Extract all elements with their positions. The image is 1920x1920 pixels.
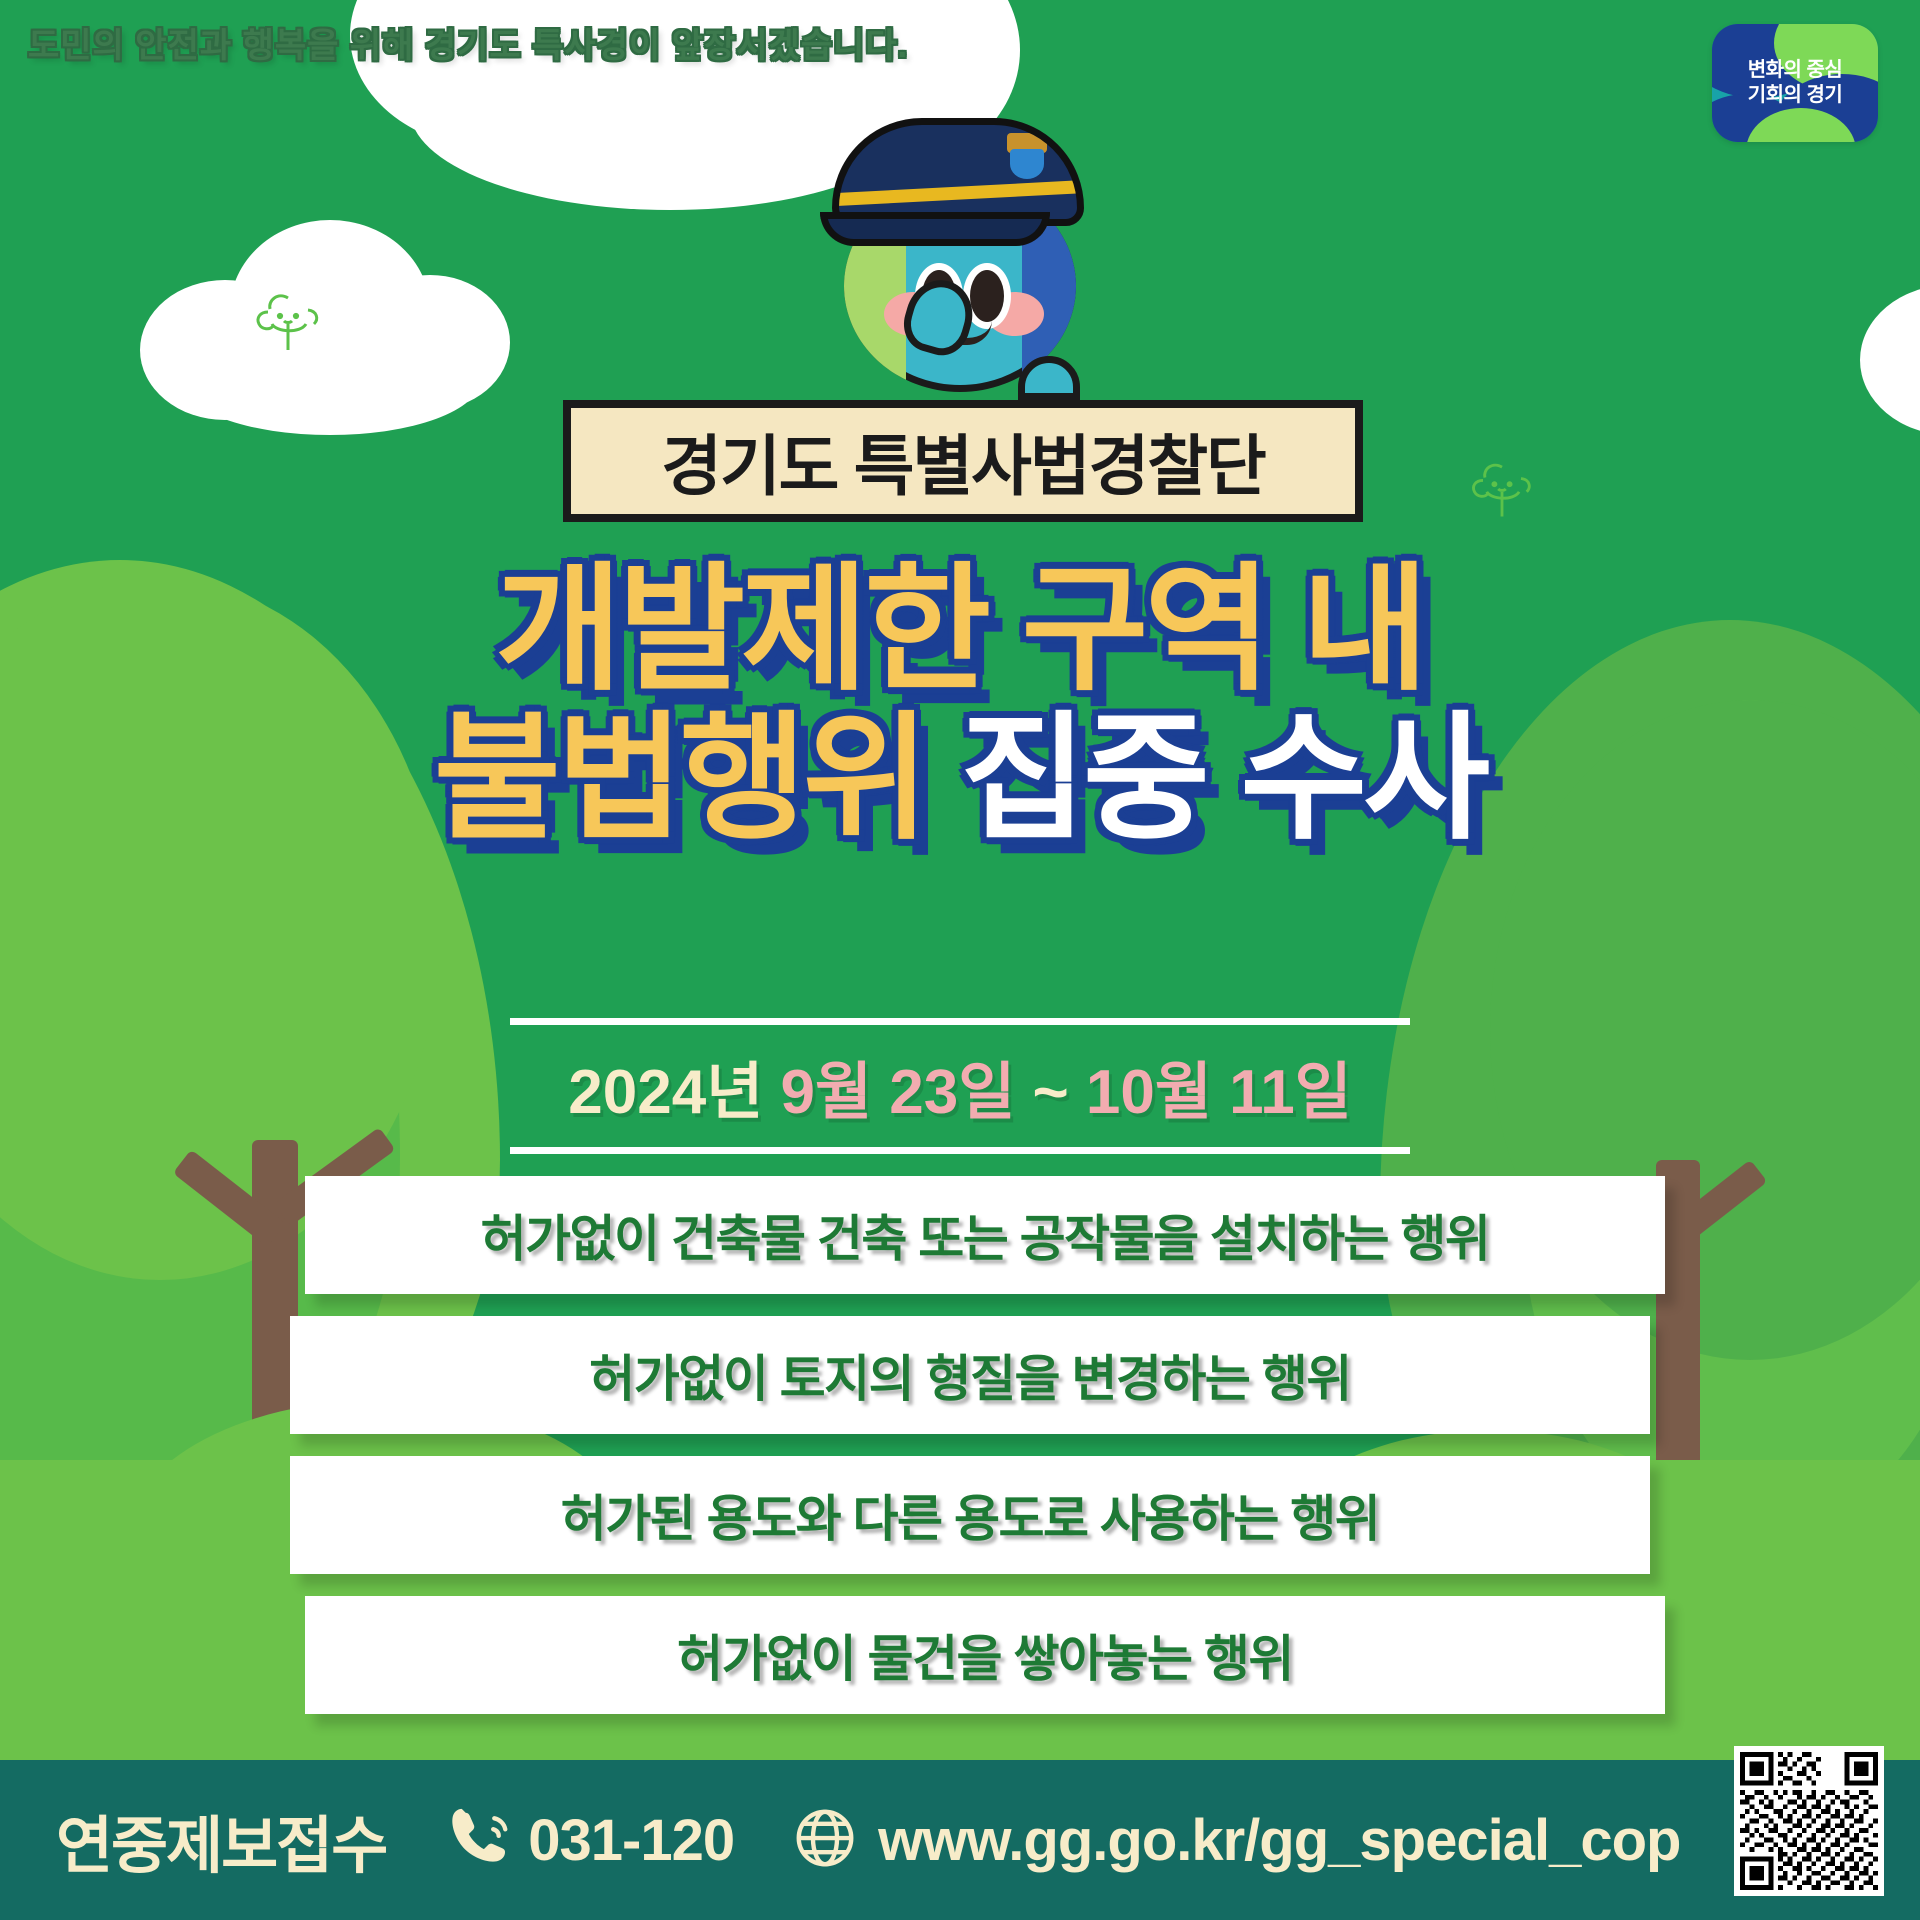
mascot-cap-band [832,179,1084,207]
date-text: 2024년 9월 23일 ~ 10월 11일 [510,1025,1410,1147]
campaign-period: 2024년 9월 23일 ~ 10월 11일 [510,1018,1410,1154]
mascot [810,84,1110,384]
globe-icon [790,1803,860,1878]
violation-text: 허가된 용도와 다른 용도로 사용하는 행위 [561,1479,1379,1551]
date-highlight-1: 9월 23일 [780,1058,1015,1127]
date-part-1: 2024년 [568,1058,780,1127]
tagline: 도민의 안전과 행복을 위해 경기도 특사경이 앞장서겠습니다. [28,26,928,67]
headline-line-1: 개발제한 구역 내 [0,556,1920,705]
violation-item: 허가된 용도와 다른 용도로 사용하는 행위 [290,1456,1650,1574]
headline-line-2-white: 집중 수사 [960,702,1486,856]
sprout-icon-left [248,280,328,365]
footer-contact-bar: 연중제보접수 031-120 www.gg.go.kr/gg_special_c… [0,1760,1920,1920]
violation-text: 허가없이 건축물 건축 또는 공작물을 설치하는 행위 [481,1199,1490,1271]
phone-contact[interactable]: 031-120 [444,1803,734,1878]
brand-line-1: 변화의 중심 [1748,58,1843,83]
gyeonggi-brand-badge: 변화의 중심 기회의 경기 [1712,24,1878,142]
phone-number: 031-120 [528,1807,734,1874]
sprout-icon-right [1464,450,1540,531]
website-url: www.gg.go.kr/gg_special_cop [878,1807,1680,1874]
mascot-cap-brim [820,212,1050,246]
headline: 개발제한 구역 내 불법행위 집중 수사 [0,556,1920,854]
mascot-cap-badge [1007,133,1047,181]
date-highlight-2: 10월 11일 [1086,1058,1352,1127]
organization-banner: 경기도 특별사법경찰단 [563,400,1363,522]
date-rule-top [510,1018,1410,1025]
violation-text: 허가없이 물건을 쌓아놓는 행위 [677,1619,1293,1691]
brand-line-2: 기회의 경기 [1748,83,1843,108]
violation-item: 허가없이 건축물 건축 또는 공작물을 설치하는 행위 [305,1176,1665,1294]
website-contact[interactable]: www.gg.go.kr/gg_special_cop [790,1803,1680,1878]
violation-item: 허가없이 물건을 쌓아놓는 행위 [305,1596,1665,1714]
violation-list: 허가없이 건축물 건축 또는 공작물을 설치하는 행위 허가없이 토지의 형질을… [0,1176,1920,1736]
phone-icon [444,1803,514,1878]
report-label: 연중제보접수 [56,1795,386,1885]
violation-text: 허가없이 토지의 형질을 변경하는 행위 [589,1339,1351,1411]
mascot-police-cap [832,118,1084,226]
headline-line-2-yellow: 불법행위 [434,702,926,856]
mascot-eye-right [970,270,1004,322]
organization-name: 경기도 특별사법경찰단 [661,413,1265,509]
headline-line-2: 불법행위 집중 수사 [0,705,1920,854]
date-rule-bottom [510,1147,1410,1154]
brand-text: 변화의 중심 기회의 경기 [1712,24,1878,142]
violation-item: 허가없이 토지의 형질을 변경하는 행위 [290,1316,1650,1434]
poster-canvas: 도민의 안전과 행복을 위해 경기도 특사경이 앞장서겠습니다. 변화의 중심 … [0,0,1920,1920]
badge-blue-shield [1010,149,1044,179]
date-part-2: ~ [1015,1058,1086,1127]
qr-code[interactable] [1734,1746,1884,1896]
